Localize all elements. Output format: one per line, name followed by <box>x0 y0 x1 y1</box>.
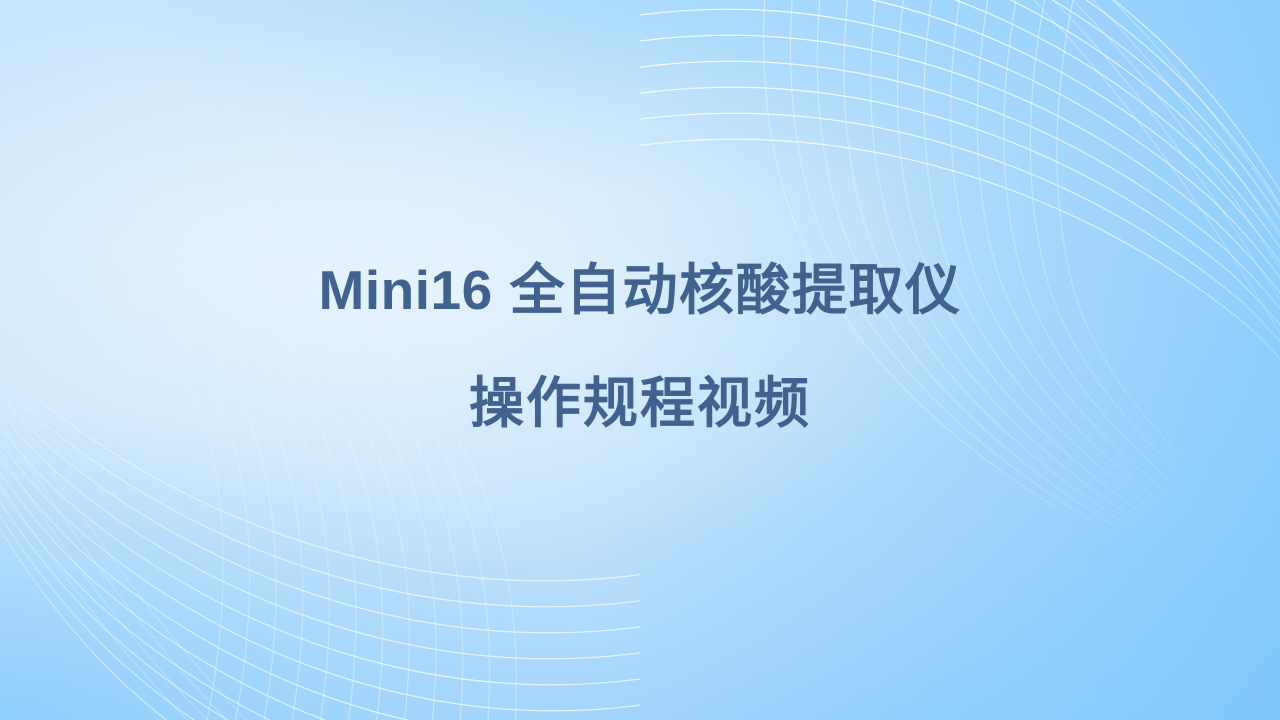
title-slide: Mini16 全自动核酸提取仪 操作规程视频 <box>0 0 1280 720</box>
page-title: Mini16 全自动核酸提取仪 <box>0 258 1280 323</box>
title-model-name: Mini16 <box>319 259 493 321</box>
title-text-block: Mini16 全自动核酸提取仪 操作规程视频 <box>0 258 1280 436</box>
title-description: 全自动核酸提取仪 <box>509 259 961 321</box>
title-spacer <box>493 259 510 321</box>
page-subtitle: 操作规程视频 <box>0 371 1280 436</box>
